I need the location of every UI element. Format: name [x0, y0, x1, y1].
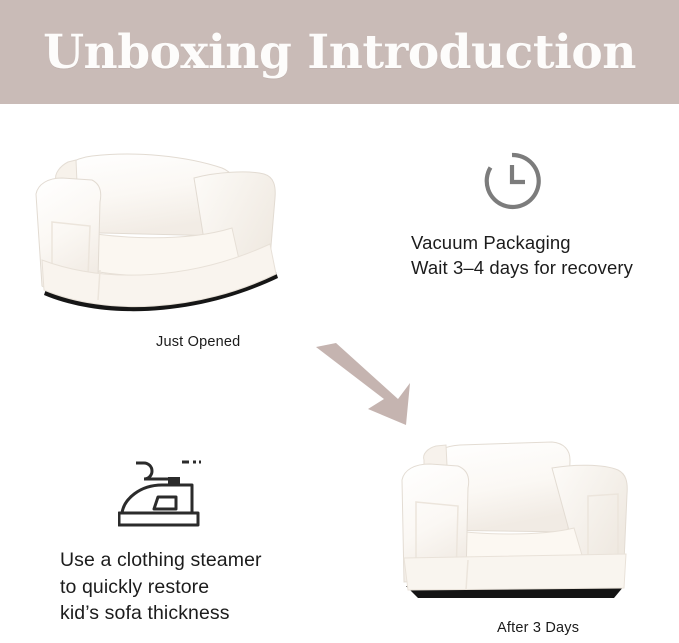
steamer-text-line-3: kid’s sofa thickness	[60, 600, 262, 627]
unboxing-introduction-page: Unboxing Introduction	[0, 0, 679, 643]
steamer-text-line-2: to quickly restore	[60, 574, 262, 601]
vacuum-text-line-1: Vacuum Packaging	[411, 230, 633, 255]
caption-after-3-days: After 3 Days	[497, 620, 579, 636]
arrow-shape	[316, 343, 410, 425]
iron-cord	[136, 463, 176, 479]
vacuum-packaging-text: Vacuum Packaging Wait 3–4 days for recov…	[411, 230, 633, 280]
clock-icon	[481, 150, 543, 212]
vacuum-text-line-2: Wait 3–4 days for recovery	[411, 255, 633, 280]
sofa-after-3-days-image	[392, 436, 642, 608]
caption-just-opened: Just Opened	[156, 334, 240, 350]
iron-soleplate	[119, 513, 198, 525]
steamer-instruction-text: Use a clothing steamer to quickly restor…	[60, 547, 262, 627]
clock-hands	[512, 165, 525, 182]
page-title: Unboxing Introduction	[0, 0, 679, 104]
sofa2-skirt	[404, 554, 626, 590]
clothing-iron-icon	[118, 455, 214, 531]
flow-arrow-down-right	[310, 343, 414, 425]
iron-vent	[154, 497, 176, 509]
sofa-just-opened-image	[26, 128, 306, 313]
steamer-text-line-1: Use a clothing steamer	[60, 547, 262, 574]
